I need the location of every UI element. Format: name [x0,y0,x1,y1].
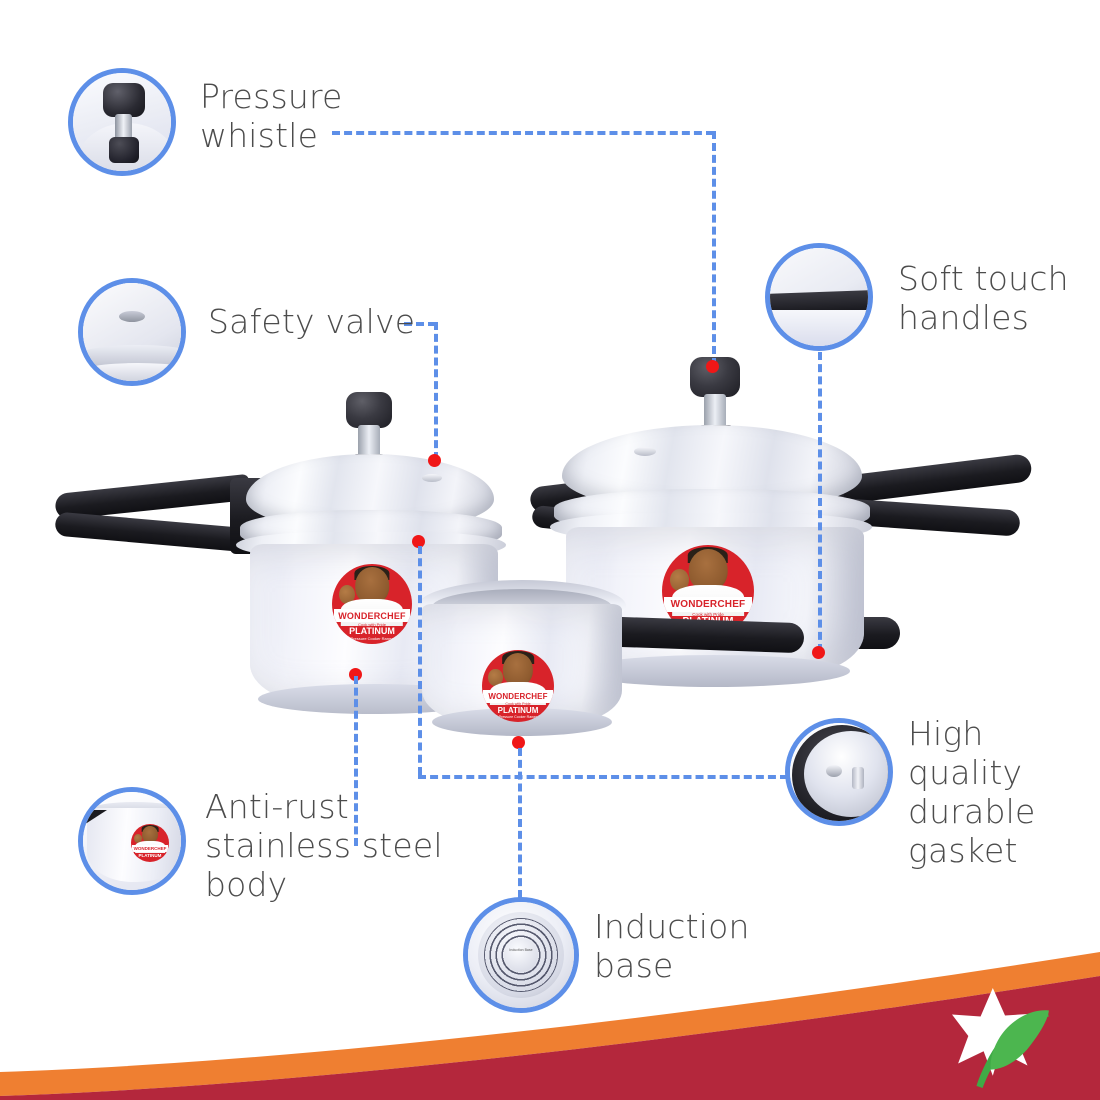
durable-gasket-thumb-image [790,723,888,821]
cooker-medium-whistle-stem [358,425,380,457]
cooker-medium-handle-left-lower [54,512,250,553]
sticker-brand-text: WONDERCHEF [488,692,547,701]
safety-valve-label: Safety valve [208,303,415,342]
sticker-brand-text: WONDERCHEF [338,611,406,621]
cooker-medium-safety-valve [422,474,442,482]
connector-rim-v [418,546,422,775]
sticker-brand-text: WONDERCHEF [671,599,746,610]
sticker-range-band: PLATINUM [337,626,407,636]
pressure-whistle-thumb [68,68,176,176]
cooker-large-safety-valve [634,447,656,456]
sticker-subrange: Pressure Cooker Range [482,715,554,719]
connector-pressure-whistle-h [332,131,714,135]
dot-safety-valve [428,454,441,467]
brand-banner-svg [0,950,1100,1100]
sticker-brand-band: WONDERCHEF [334,609,411,623]
infographic-canvas: WONDERCHEF Cook with Pride PLATINUM Pres… [0,0,1100,1100]
sticker-range-text: PLATINUM [349,626,395,636]
safety-valve-thumb-image [83,283,181,381]
sticker-brand-band: WONDERCHEF [483,690,552,702]
soft-touch-handles-thumb [765,243,873,351]
soft-touch-handles-label: Soft touch handles [898,260,1069,338]
connector-pressure-whistle-v [712,131,716,366]
sticker-range-band: PLATINUM [486,705,549,714]
durable-gasket-label: High quality durable gasket [908,715,1100,871]
soft-touch-handles-thumb-image [770,248,868,346]
cooker-medium-sticker: WONDERCHEF Cook with Pride PLATINUM Pres… [332,564,412,644]
pressure-whistle-label: Pressure whistle [200,78,343,156]
sticker-subrange: Pressure Cooker Range [332,636,412,641]
sticker-range-text: PLATINUM [498,706,539,715]
anti-rust-body-thumb-image: WONDERCHEF PLATINUM [83,792,181,890]
connector-soft-touch-v [818,352,822,652]
pan-small: WONDERCHEF Cook with Pride PLATINUM Pres… [418,580,638,750]
cooker-medium-whistle-knob [346,392,392,428]
durable-gasket-thumb [785,718,893,826]
anti-rust-body-label: Anti-rust stainless steel body [205,788,443,905]
dot-soft-touch-handles [812,646,825,659]
connector-gasket-h [418,775,788,779]
connector-induction-v [518,748,522,898]
pressure-whistle-thumb-image [73,73,171,171]
anti-rust-body-thumb: WONDERCHEF PLATINUM [78,787,186,895]
brand-banner [0,950,1100,1100]
dot-pressure-whistle [706,360,719,373]
pan-small-sticker: WONDERCHEF Cook with Pride PLATINUM Pres… [482,650,554,722]
connector-safety-valve-v [434,322,438,460]
safety-valve-thumb [78,278,186,386]
sticker-brand-band: WONDERCHEF [664,597,752,613]
cooker-large-whistle-stem [704,394,726,428]
